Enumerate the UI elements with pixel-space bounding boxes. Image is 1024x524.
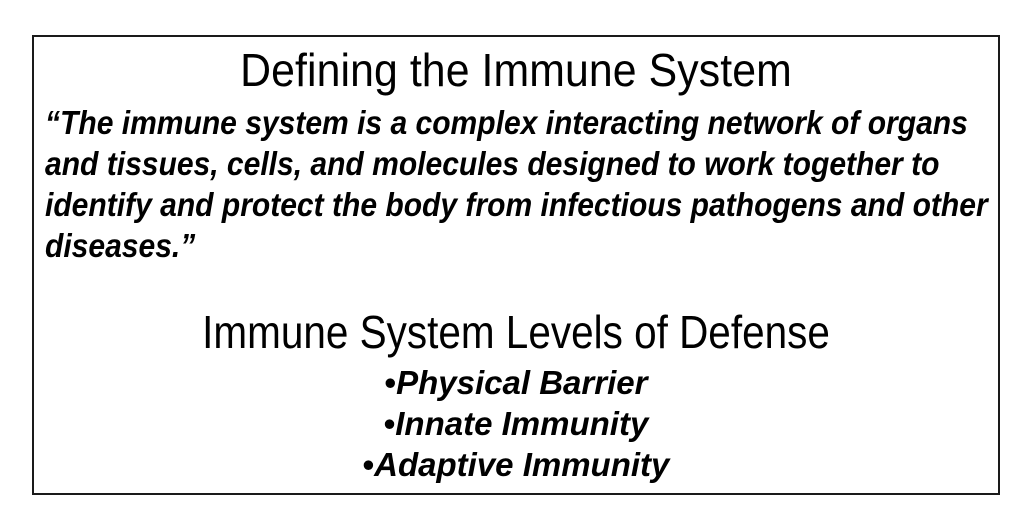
list-item: •Physical Barrier (34, 362, 998, 403)
quote-line-2: and tissues, cells, and molecules design… (45, 143, 900, 184)
slide-content-frame: Defining the Immune System “The immune s… (32, 35, 1000, 495)
levels-of-defense-list: •Physical Barrier •Innate Immunity •Adap… (34, 362, 998, 485)
immune-system-definition-quote: “The immune system is a complex interact… (45, 102, 900, 266)
slide-root: Defining the Immune System “The immune s… (0, 0, 1024, 524)
list-item: •Innate Immunity (34, 403, 998, 444)
section-heading-levels-of-defense: Immune System Levels of Defense (92, 305, 940, 359)
list-item-label: Physical Barrier (396, 364, 647, 401)
bullet-icon: • (384, 405, 396, 442)
bullet-icon: • (385, 364, 397, 401)
list-item: •Adaptive Immunity (34, 444, 998, 485)
quote-line-4: diseases.” (45, 225, 900, 266)
list-item-label: Adaptive Immunity (374, 446, 669, 483)
quote-line-3: identify and protect the body from infec… (45, 184, 900, 225)
bullet-icon: • (363, 446, 375, 483)
list-item-label: Innate Immunity (395, 405, 648, 442)
page-title: Defining the Immune System (68, 43, 965, 97)
quote-line-1: “The immune system is a complex interact… (45, 102, 900, 143)
